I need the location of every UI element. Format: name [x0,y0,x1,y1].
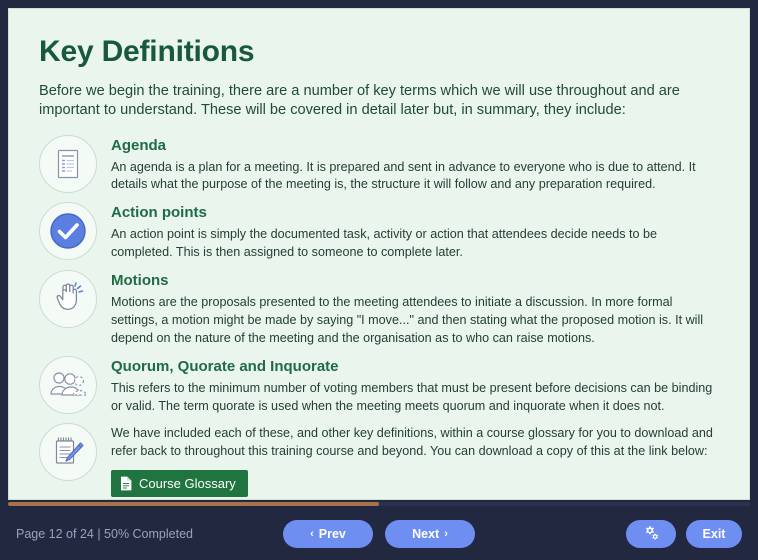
list-item: Motions Motions are the proposals presen… [39,268,719,348]
agenda-document-icon [39,135,97,193]
definition-text: Motions are the proposals presented to t… [111,294,719,348]
notepad-pen-icon [39,423,97,481]
definitions-list: Agenda An agenda is a plan for a meeting… [39,133,719,501]
definition-body: Motions Motions are the proposals presen… [111,268,719,348]
definition-body: Agenda An agenda is a plan for a meeting… [111,133,719,195]
definition-text: An action point is simply the documented… [111,226,719,262]
definition-body: Quorum, Quorate and Inquorate This refer… [111,354,719,416]
list-item: Agenda An agenda is a plan for a meeting… [39,133,719,195]
definition-body: Action points An action point is simply … [111,200,719,262]
glossary-button-label: Course Glossary [139,476,236,491]
navigation-buttons: ‹ Prev Next › [283,520,475,548]
definition-text: This refers to the minimum number of vot… [111,380,719,416]
glossary-row: We have included each of these, and othe… [39,421,719,497]
glossary-description: We have included each of these, and othe… [111,425,719,461]
slide-intro-text: Before we begin the training, there are … [39,82,707,121]
course-progress-fill [8,502,379,506]
chevron-left-icon: ‹ [310,529,314,540]
list-item: Quorum, Quorate and Inquorate This refer… [39,354,719,416]
exit-button-label: Exit [703,527,726,541]
glossary-body: We have included each of these, and othe… [111,421,719,497]
definition-term: Motions [111,272,719,290]
chevron-right-icon: › [444,529,448,540]
course-progress-bar [8,502,750,506]
course-player-screen: Key Definitions Before we begin the trai… [0,0,758,560]
page-status-text: Page 12 of 24 | 50% Completed [16,527,193,541]
page-title: Key Definitions [39,35,719,68]
definition-term: Agenda [111,137,719,155]
definition-term: Action points [111,204,719,222]
player-footer: Page 12 of 24 | 50% Completed ‹ Prev Nex… [0,508,758,560]
course-glossary-download-button[interactable]: Course Glossary [111,470,248,497]
list-item: Action points An action point is simply … [39,200,719,262]
prev-button[interactable]: ‹ Prev [283,520,373,548]
exit-button[interactable]: Exit [686,520,742,548]
check-circle-icon [39,202,97,260]
group-people-icon [39,356,97,414]
file-document-icon [120,476,132,491]
next-button-label: Next [412,527,439,541]
footer-right-controls: Exit [626,520,742,548]
slide-content-panel: Key Definitions Before we begin the trai… [8,8,750,500]
settings-button[interactable] [626,520,676,548]
gears-icon [642,525,660,544]
definition-term: Quorum, Quorate and Inquorate [111,358,719,376]
next-button[interactable]: Next › [385,520,475,548]
definition-text: An agenda is a plan for a meeting. It is… [111,159,719,195]
prev-button-label: Prev [319,527,346,541]
raised-hand-icon [39,270,97,328]
